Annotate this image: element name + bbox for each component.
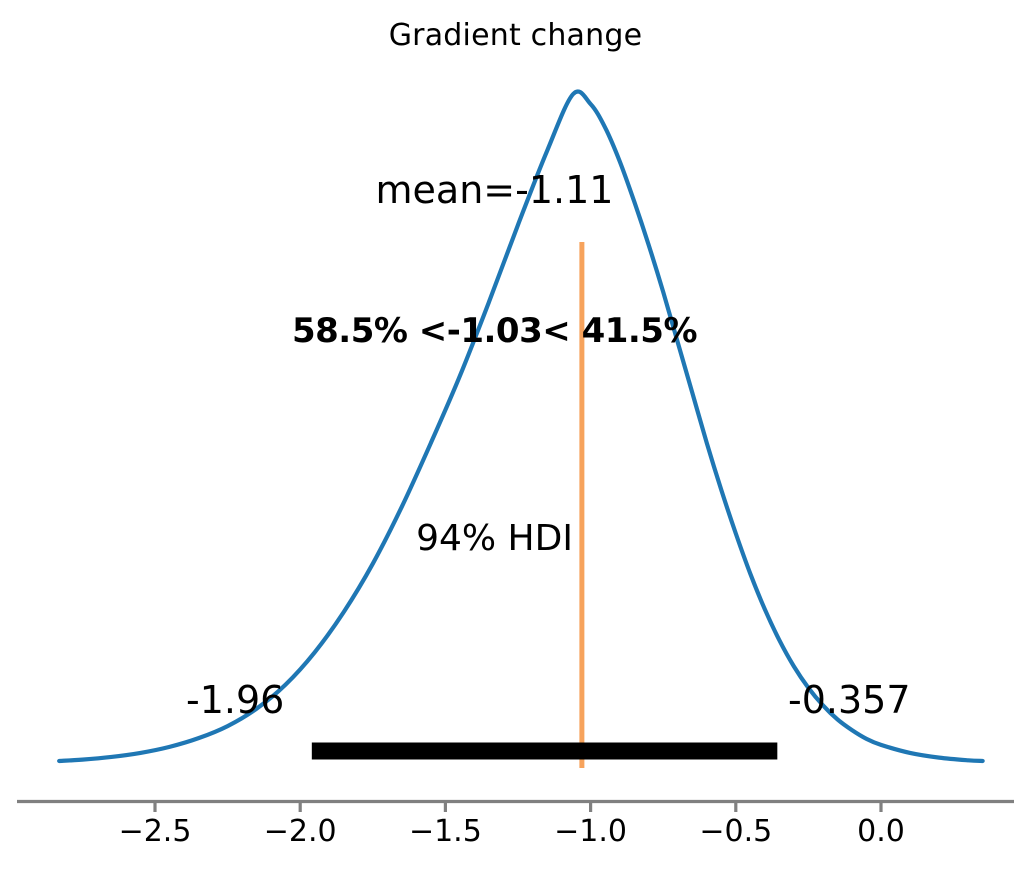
posterior-plot-figure: Gradient change −2.5−2.0−1.5−1.0−0.50.0 … — [0, 0, 1031, 877]
hdi-upper-bound-label: -0.357 — [788, 678, 911, 722]
rope-annotation: 58.5% <-1.03< 41.5% — [0, 311, 1010, 351]
x-axis-tick-label: −2.5 — [119, 814, 192, 849]
plot-canvas — [0, 0, 1031, 877]
x-axis-tick-label: 0.0 — [857, 814, 905, 849]
x-axis-tick-label: −2.0 — [264, 814, 337, 849]
x-axis-tick-label: −1.0 — [554, 814, 627, 849]
hdi-lower-bound-label: -1.96 — [186, 678, 284, 722]
hdi-label: 94% HDI — [0, 518, 1010, 559]
x-axis-group — [17, 802, 1014, 813]
mean-annotation: mean=-1.11 — [0, 168, 1010, 212]
x-axis-tick-label: −0.5 — [699, 814, 772, 849]
x-axis-tick-label: −1.5 — [409, 814, 482, 849]
